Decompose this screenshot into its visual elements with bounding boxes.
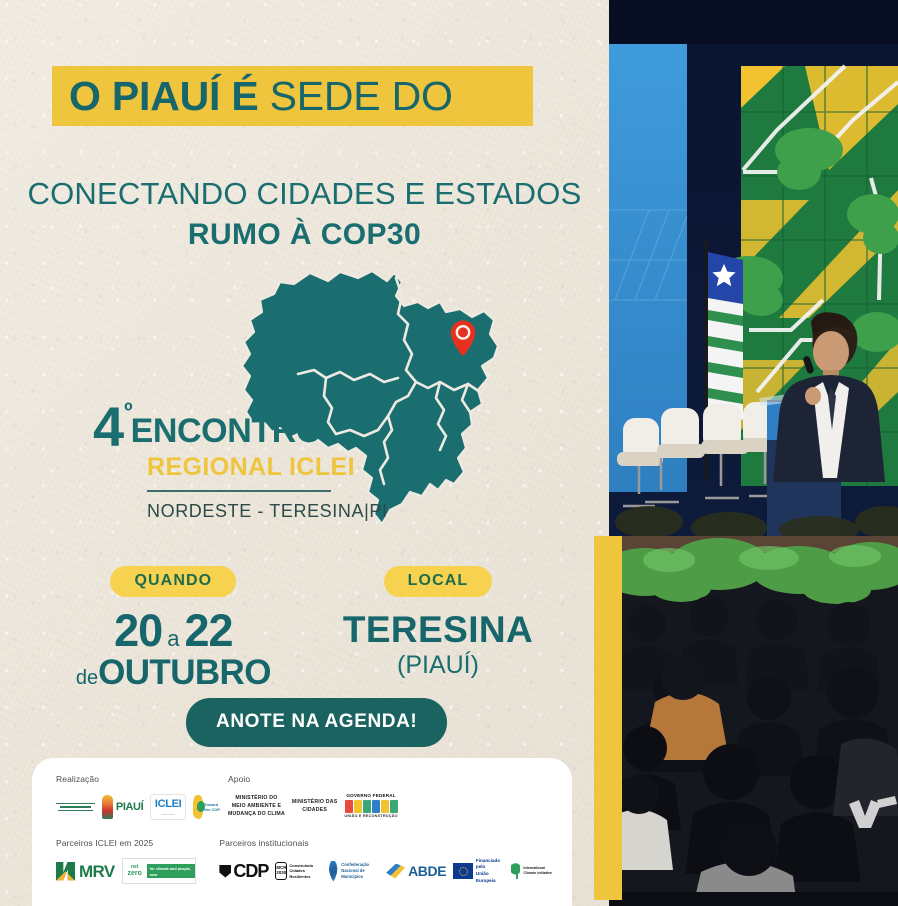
cnm-logo: Confederação Nacional de Municípios — [328, 857, 379, 885]
piaui-logo-text: PIAUÍ — [116, 802, 143, 813]
realizacao-group: Realização PIAUÍ ICLEI _______ — [56, 774, 224, 822]
mcr2030-logo: MCR 2030 Construindo Cidades Resilientes — [275, 857, 321, 885]
abde-mark-icon — [386, 864, 405, 879]
iki-tree-icon — [511, 862, 520, 880]
when-column: QUANDO 20a22 deOUTUBRO — [76, 566, 271, 690]
when-month: deOUTUBRO — [76, 655, 271, 690]
subtitle-line-2: RUMO À COP30 — [0, 218, 609, 252]
day-start: 20 — [114, 605, 162, 656]
mma-line-1: MINISTÉRIO DO — [228, 795, 285, 803]
audience-photo — [609, 536, 898, 906]
day-connector: a — [167, 626, 179, 651]
apoio-label: Apoio — [228, 774, 552, 784]
day-end: 22 — [184, 605, 232, 656]
eu-flag-icon — [453, 863, 473, 879]
page-title: O PIAUÍ É SEDE DO — [52, 66, 533, 126]
month-prefix: de — [76, 667, 98, 689]
mrv-logo-text: MRV — [79, 863, 115, 880]
uniao-reconstrucao-text: UNIÃO E RECONSTRUÇÃO — [344, 814, 397, 818]
mma-line-3: MUDANÇA DO CLIMA — [228, 811, 285, 819]
eu-line-1: Financiado pela — [476, 858, 500, 870]
parceiros-iclei-group: Parceiros ICLEI em 2025 MRV netzero for … — [56, 838, 215, 886]
cdp-logo: CDP — [219, 857, 268, 885]
piaui-logo: PIAUÍ — [102, 793, 143, 821]
iki-logo-text: International Climate Initiative — [523, 866, 552, 877]
cdp-mark-icon — [219, 865, 231, 878]
realizacao-logos: PIAUÍ ICLEI _______ Toward the COP — [56, 792, 224, 822]
speaker-at-podium-photo — [609, 0, 898, 536]
apoio-group: Apoio MINISTÉRIO DO MEIO AMBIENTE E MUDA… — [224, 774, 552, 822]
governo-federal-text: GOVERNO FEDERAL — [346, 793, 395, 798]
ministerio-meio-ambiente-logo: MINISTÉRIO DO MEIO AMBIENTE E MUDANÇA DO… — [228, 793, 285, 821]
event-edition-block: 4 º ENCONTRO REGIONAL ICLEI NORDESTE - T… — [93, 404, 388, 522]
mcid-line-2: CIDADES — [292, 807, 337, 815]
subtitle: CONECTANDO CIDADES E ESTADOS RUMO À COP3… — [0, 176, 609, 252]
title-light-part: SEDE DO — [270, 73, 453, 120]
sponsors-row-2: Parceiros ICLEI em 2025 MRV netzero for … — [56, 838, 552, 886]
parceiros-institucionais-logos: CDP MCR 2030 Construindo Cidades Resilie… — [219, 856, 552, 886]
netzero-tagline: for climate and people, now — [147, 864, 195, 878]
edition-regional: REGIONAL ICLEI — [147, 453, 388, 482]
realizacao-label: Realização — [56, 774, 224, 784]
cdp-logo-text: CDP — [233, 862, 268, 880]
where-pill-label: LOCAL — [384, 566, 493, 597]
parceiros-institucionais-label: Parceiros institucionais — [219, 838, 552, 848]
toward-cop30-logo: Toward the COP — [193, 793, 224, 821]
where-state: (PIAUÍ) — [343, 653, 533, 678]
cnm-brazil-icon — [328, 861, 338, 882]
governo-federal-brasil-logo: GOVERNO FEDERAL UNIÃO E RECONSTRUÇÃO — [344, 793, 397, 821]
sponsors-footer-card: Realização PIAUÍ ICLEI _______ — [32, 758, 572, 906]
toward-cop30-text: Toward the COP — [204, 802, 224, 812]
governo-piaui-logo — [56, 795, 95, 819]
edition-word: ENCONTRO — [131, 414, 322, 448]
when-days: 20a22 — [76, 610, 271, 653]
mcid-line-1: MINISTÉRIO DAS — [292, 799, 337, 807]
edition-divider — [147, 490, 331, 492]
when-pill-label: QUANDO — [110, 566, 236, 597]
mma-line-2: MEIO AMBIENTE E — [228, 803, 285, 811]
uniao-europeia-logo: Financiado pela União Europeia — [453, 857, 504, 885]
abde-logo: ABDE — [386, 857, 446, 885]
abde-logo-text: ABDE — [408, 864, 446, 878]
anote-na-agenda-button[interactable]: ANOTE NA AGENDA! — [186, 698, 447, 747]
cnm-logo-text: Confederação Nacional de Municípios — [341, 862, 379, 880]
where-column: LOCAL TERESINA (PIAUÍ) — [343, 566, 533, 690]
title-bold-part: O PIAUÍ É — [69, 73, 259, 120]
mrv-logo: MRV — [56, 857, 115, 885]
eu-line-2: União Europeia — [476, 871, 496, 883]
mrv-mark-icon — [56, 862, 75, 881]
cop-leaf-icon — [193, 795, 203, 819]
edition-region-city: NORDESTE - TERESINA|PI — [147, 501, 388, 522]
netzero-mark: netzero — [123, 865, 147, 877]
parceiros-iclei-label: Parceiros ICLEI em 2025 — [56, 838, 215, 848]
mcr2030-text: Construindo Cidades Resilientes — [289, 863, 321, 880]
map-location-pin-icon — [450, 320, 476, 356]
edition-number: 4 — [93, 404, 123, 450]
iclei-logo-text: ICLEI — [155, 799, 182, 810]
yellow-accent-bar — [594, 536, 622, 900]
ministerio-cidades-logo: MINISTÉRIO DAS CIDADES — [292, 793, 337, 821]
sponsors-row-1: Realização PIAUÍ ICLEI _______ — [56, 774, 552, 822]
where-city: TERESINA — [343, 611, 533, 648]
event-poster: O PIAUÍ É SEDE DO CONECTANDO CIDADES E E… — [0, 0, 898, 906]
netzero-logo: netzero for climate and people, now — [122, 858, 196, 884]
subtitle-line-1: CONECTANDO CIDADES E ESTADOS — [0, 176, 609, 212]
apoio-logos: MINISTÉRIO DO MEIO AMBIENTE E MUDANÇA DO… — [228, 792, 552, 822]
iclei-logo: ICLEI _______ — [150, 794, 186, 820]
month-name: OUTUBRO — [98, 653, 271, 692]
mcr2030-code: MCR 2030 — [275, 862, 287, 880]
iki-logo: International Climate Initiative — [511, 857, 552, 885]
parceiros-iclei-logos: MRV netzero for climate and people, now — [56, 856, 215, 886]
brasil-blocks-icon — [345, 800, 398, 813]
event-info: QUANDO 20a22 deOUTUBRO LOCAL TERESINA (P… — [0, 566, 609, 690]
eu-logo-text: Financiado pela União Europeia — [476, 858, 505, 885]
piaui-flame-icon — [102, 795, 113, 819]
parceiros-institucionais-group: Parceiros institucionais CDP MCR 2030 Co… — [215, 838, 552, 886]
